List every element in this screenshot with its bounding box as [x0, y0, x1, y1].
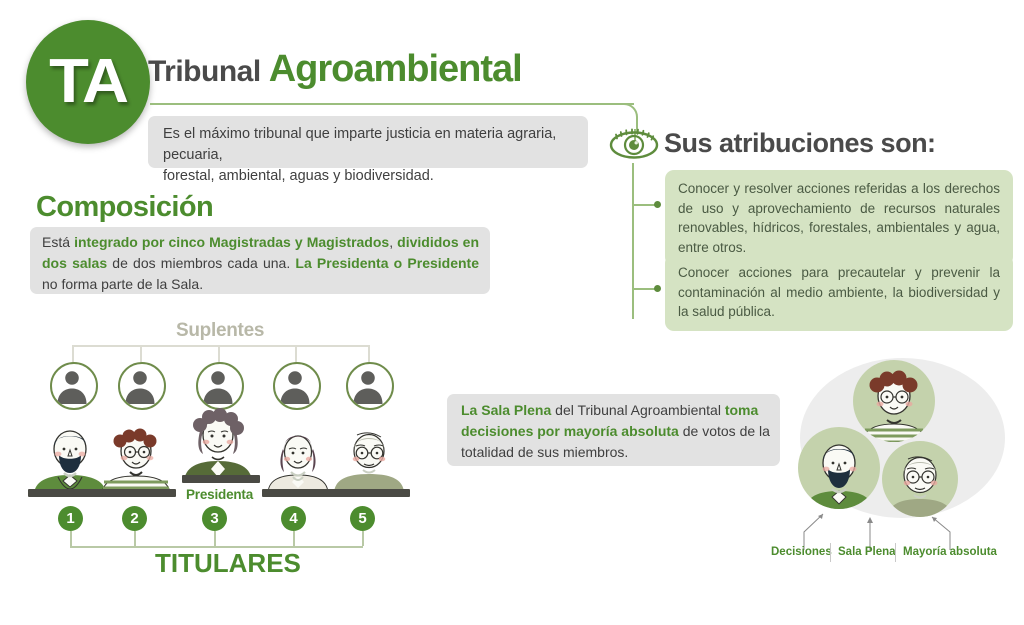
page-title-part1: Tribunal: [148, 55, 261, 88]
titular-badge-5: 5: [350, 506, 375, 531]
plena-divider-2: [895, 543, 896, 562]
plena-tag-sala-plena: Sala Plena: [838, 546, 896, 558]
titular-stem-1: [70, 531, 72, 546]
titular-stem-5: [362, 531, 364, 546]
plena-tag-decisiones: Decisiones: [771, 546, 832, 558]
page-title-part2: Agroambiental: [269, 48, 522, 90]
titular-stem-3: [214, 531, 216, 546]
atribuciones-branch-1: [634, 204, 656, 206]
suplentes-stem-4: [295, 345, 297, 363]
plena-seg-2: del Tribunal Agroambiental: [551, 402, 725, 418]
suplente-avatar-1: [50, 362, 98, 410]
titular-badge-1: 1: [58, 506, 83, 531]
atribuciones-dot-1: [654, 201, 661, 208]
composicion-text: Está integrado por cinco Magistradas y M…: [42, 232, 479, 295]
comp-seg-5: de dos miembros cada una.: [107, 255, 295, 271]
plena-seg-1: La Sala Plena: [461, 402, 551, 418]
plena-face-top: [853, 360, 935, 442]
atribucion-card-2: Conocer acciones para precautelar y prev…: [665, 254, 1013, 331]
composicion-title: Composición: [36, 191, 213, 224]
ta-logo-text: TA: [49, 51, 127, 113]
comp-seg-7: no forma parte de la Sala.: [42, 276, 203, 292]
sala-plena-text: La Sala Plena del Tribunal Agroambiental…: [461, 400, 771, 463]
suplentes-label: Suplentes: [176, 320, 264, 342]
atribuciones-spine: [632, 163, 634, 319]
suplente-avatar-3: [196, 362, 244, 410]
suplentes-stem-5: [368, 345, 370, 363]
plena-tag-mayoria: Mayoría absoluta: [903, 546, 997, 558]
atribucion-card-1: Conocer y resolver acciones referidas a …: [665, 170, 1013, 266]
titulares-label: TITULARES: [155, 548, 301, 579]
atribuciones-title: Sus atribuciones son:: [664, 128, 936, 159]
suplente-avatar-5: [346, 362, 394, 410]
suplente-avatar-4: [273, 362, 321, 410]
intro-line-2: forestal, ambiental, aguas y biodiversid…: [163, 168, 434, 184]
ta-logo: TA: [26, 20, 150, 144]
titular-badge-2: 2: [122, 506, 147, 531]
atribucion-text-2: Conocer acciones para precautelar y prev…: [678, 263, 1000, 322]
suplentes-stem-1: [72, 345, 74, 363]
atribuciones-branch-2: [634, 288, 656, 290]
suplente-avatar-2: [118, 362, 166, 410]
plena-leader-lines: [760, 500, 1024, 550]
titular-stem-4: [293, 531, 295, 546]
suplentes-stem-2: [140, 345, 142, 363]
comp-seg-6: La Presidenta o Presidente: [295, 255, 479, 271]
titular-badge-3: 3: [202, 506, 227, 531]
title-underline: [150, 103, 634, 105]
plena-face-left: [798, 427, 880, 509]
presidenta-label: Presidenta: [186, 487, 253, 502]
bench-right: [262, 489, 410, 497]
bench-center: [182, 475, 260, 483]
suplentes-tree-hline: [72, 345, 368, 347]
comp-seg-1: Está: [42, 234, 74, 250]
atribucion-text-1: Conocer y resolver acciones referidas a …: [678, 179, 1000, 257]
page-title: TribunalAgroambiental: [148, 48, 522, 91]
atribuciones-dot-2: [654, 285, 661, 292]
infographic-root: TA TribunalAgroambiental Es el máximo tr…: [0, 0, 1024, 625]
intro-text: Es el máximo tribunal que imparte justic…: [163, 124, 581, 187]
suplentes-stem-3: [218, 345, 220, 363]
plena-divider-1: [830, 543, 831, 562]
eye-icon: [606, 126, 662, 164]
titular-stem-2: [134, 531, 136, 546]
intro-line-1: Es el máximo tribunal que imparte justic…: [163, 126, 556, 163]
comp-seg-2: integrado por cinco Magistradas y Magist…: [74, 234, 389, 250]
bench-left: [28, 489, 176, 497]
titular-badge-4: 4: [281, 506, 306, 531]
comp-seg-3: ,: [389, 234, 397, 250]
